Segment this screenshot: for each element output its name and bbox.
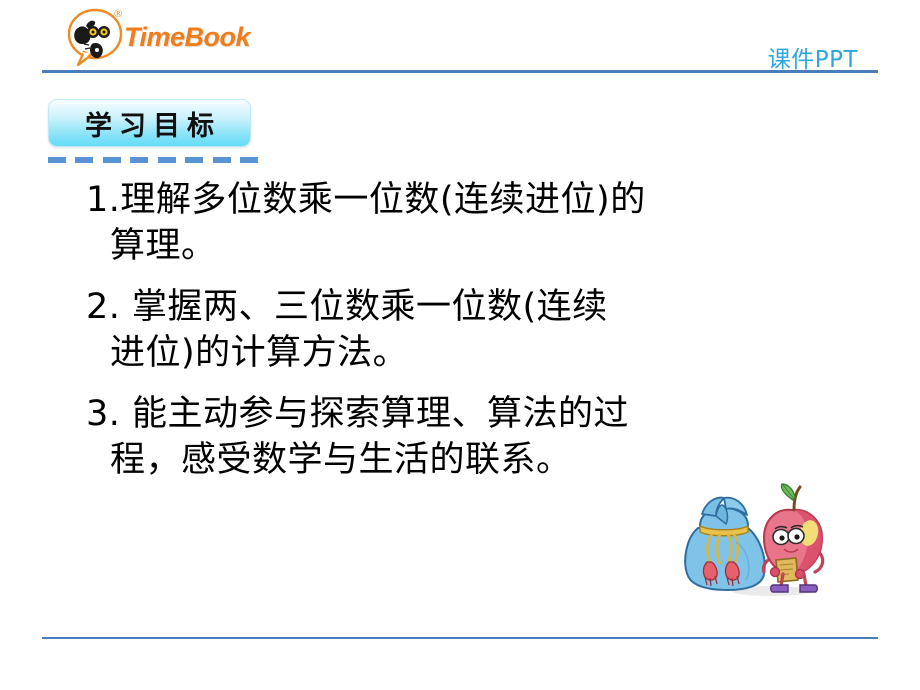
- slide-header: ® TimeBook 课件PPT: [0, 0, 920, 72]
- dash-segment: [213, 157, 231, 163]
- objective-item-2: 2. 掌握两、三位数乘一位数(连续 进位)的计算方法。: [86, 285, 842, 376]
- blue-sack-icon: [685, 498, 764, 590]
- learning-objectives-badge: 学习目标: [48, 99, 251, 147]
- dash-segment: [130, 157, 148, 163]
- dash-segment: [103, 157, 121, 163]
- brand-logo[interactable]: ® TimeBook: [62, 8, 262, 66]
- sack-and-apple-illustration: [676, 476, 848, 598]
- objective-item-3: 3. 能主动参与探索算理、算法的过 程，感受数学与生活的联系。: [86, 392, 842, 483]
- footer-divider-rule: [42, 637, 878, 639]
- dash-segment: [48, 157, 66, 163]
- objective-1-line-1: 1.理解多位数乘一位数(连续进位)的: [86, 180, 646, 220]
- header-divider-rule: [42, 70, 878, 73]
- learning-objectives-list: 1.理解多位数乘一位数(连续进位)的 算理。 2. 掌握两、三位数乘一位数(连续…: [86, 178, 842, 499]
- registered-trademark-icon: ®: [114, 9, 122, 20]
- objective-item-1: 1.理解多位数乘一位数(连续进位)的 算理。: [86, 178, 842, 269]
- header-label-courseware-ppt: 课件PPT: [768, 40, 858, 74]
- dash-segment: [158, 157, 176, 163]
- objective-2-line-2: 进位)的计算方法。: [86, 331, 842, 377]
- learning-objectives-badge-label: 学习目标: [49, 100, 250, 146]
- brand-name: TimeBook: [124, 22, 250, 53]
- dash-segment: [185, 157, 203, 163]
- objective-3-line-1: 3. 能主动参与探索算理、算法的过: [86, 394, 629, 434]
- badge-dashed-underline: [48, 157, 258, 163]
- dash-segment: [240, 157, 258, 163]
- objective-2-line-1: 2. 掌握两、三位数乘一位数(连续: [86, 287, 608, 327]
- objective-1-line-2: 算理。: [86, 224, 842, 270]
- dash-segment: [75, 157, 93, 163]
- slide-canvas: ® TimeBook 课件PPT 学习目标 1.理解多位数乘一位数(连续进位)的…: [0, 0, 920, 690]
- apple-character-icon: [763, 484, 822, 592]
